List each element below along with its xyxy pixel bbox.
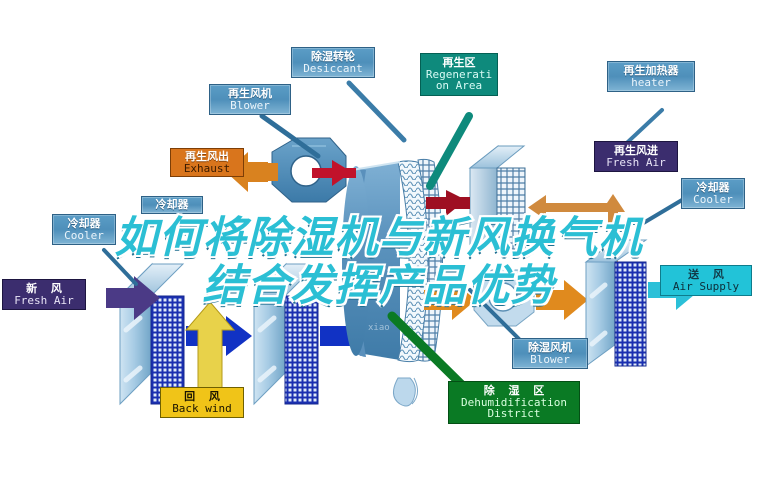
label-back-wind-en: Back wind [161, 403, 243, 415]
label-dehumidification-area[interactable]: 除 湿 区 Dehumidification District [448, 381, 580, 424]
label-dehumidification-area-en: Dehumidification District [449, 397, 579, 420]
label-dehumidification-area-cn: 除 湿 区 [449, 385, 579, 397]
label-regeneration-heater[interactable]: 再生加热器 heater [607, 61, 695, 92]
label-air-supply-cn: 送 风 [661, 269, 751, 281]
label-cooler-left-cn: 冷却器 [53, 218, 115, 230]
label-cooler-right[interactable]: 冷却器 Cooler [681, 178, 745, 209]
label-regeneration-exhaust-en: Exhaust [171, 163, 243, 175]
label-cooler-left-en: Cooler [53, 230, 115, 242]
label-cooler-left-upper[interactable]: 冷却器 [141, 196, 203, 214]
label-regeneration-area-cn: 再生区 [423, 57, 495, 69]
label-dehumidification-blower-en: Blower [513, 354, 587, 366]
label-desiccant-wheel-en: Desiccant [292, 63, 374, 75]
label-regeneration-fresh-air-en: Fresh Air [595, 157, 677, 169]
label-regeneration-fresh-air[interactable]: 再生风进 Fresh Air [594, 141, 678, 172]
label-cooler-right-cn: 冷却器 [682, 182, 744, 194]
label-fresh-air-intake[interactable]: 新 风 Fresh Air [2, 279, 86, 310]
orange-arrow-dehum-2 [536, 280, 588, 320]
label-regeneration-heater-en: heater [608, 77, 694, 89]
desiccant-wheel: xiao [342, 159, 443, 406]
label-regeneration-heater-cn: 再生加热器 [608, 65, 694, 77]
dehumidification-fan [474, 270, 534, 326]
label-desiccant-wheel-cn: 除湿转轮 [292, 51, 374, 63]
label-back-wind[interactable]: 回 风 Back wind [160, 387, 244, 418]
label-regeneration-exhaust-cn: 再生风出 [171, 151, 243, 163]
label-regeneration-blower-cn: 再生风机 [210, 88, 290, 100]
label-cooler-right-en: Cooler [682, 194, 744, 206]
diagram-canvas: xiao [0, 0, 757, 488]
label-back-wind-cn: 回 风 [161, 391, 243, 403]
label-air-supply-en: Air Supply [661, 281, 751, 293]
cooler-coil-left [120, 264, 184, 404]
label-dehumidification-blower[interactable]: 除湿风机 Blower [512, 338, 588, 369]
svg-text:xiao: xiao [368, 323, 390, 333]
label-regeneration-blower-en: Blower [210, 100, 290, 112]
supply-coil [586, 240, 646, 366]
label-desiccant-wheel[interactable]: 除湿转轮 Desiccant [291, 47, 375, 78]
label-air-supply[interactable]: 送 风 Air Supply [660, 265, 752, 296]
cooler-coil-left-2 [254, 264, 318, 404]
label-regeneration-exhaust[interactable]: 再生风出 Exhaust [170, 148, 244, 177]
label-fresh-air-intake-cn: 新 风 [3, 283, 85, 295]
label-regeneration-area[interactable]: 再生区 Regenerati on Area [420, 53, 498, 96]
label-cooler-left[interactable]: 冷却器 Cooler [52, 214, 116, 245]
label-regeneration-fresh-air-cn: 再生风进 [595, 145, 677, 157]
regeneration-heater [470, 146, 525, 252]
label-cooler-left-upper-cn: 冷却器 [142, 199, 202, 211]
label-dehumidification-blower-cn: 除湿风机 [513, 342, 587, 354]
label-regeneration-area-en: Regenerati on Area [423, 69, 495, 92]
label-regeneration-blower[interactable]: 再生风机 Blower [209, 84, 291, 115]
label-fresh-air-intake-en: Fresh Air [3, 295, 85, 307]
